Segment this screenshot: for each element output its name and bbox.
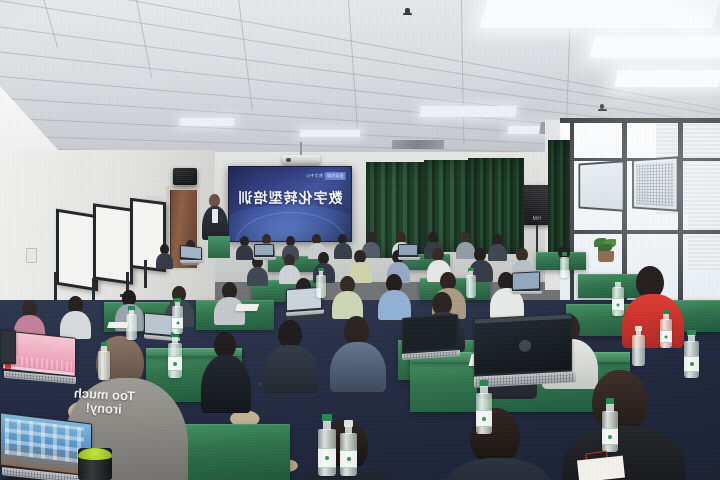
slide-logo-chip: 会议内部 xyxy=(325,172,346,180)
water-bottle[interactable] xyxy=(98,342,110,380)
ceiling-light-panel xyxy=(615,70,720,87)
water-bottle[interactable] xyxy=(340,420,357,476)
speaker-stand-pole xyxy=(536,225,538,253)
laptop-screen xyxy=(475,314,571,374)
handout-paper[interactable] xyxy=(577,456,625,480)
awning-window-open[interactable] xyxy=(632,156,679,212)
fire-sprinkler-icon xyxy=(405,8,410,15)
projection-screen: 数字化转型培训 会议内部 数字中心 xyxy=(228,166,352,242)
water-bottle[interactable] xyxy=(168,332,182,378)
window-blind[interactable] xyxy=(688,202,720,272)
vacuum-flask[interactable] xyxy=(78,448,112,480)
laptop[interactable] xyxy=(0,330,18,370)
laptop-screen xyxy=(255,245,273,255)
laptop[interactable] xyxy=(254,244,276,260)
water-bottle[interactable] xyxy=(602,398,618,452)
laptop[interactable] xyxy=(512,272,542,294)
laptop[interactable] xyxy=(180,246,204,263)
laptop-screen xyxy=(181,246,201,259)
water-bottle[interactable] xyxy=(172,298,183,334)
whiteboard-leg xyxy=(144,260,147,288)
slide-title-text: 数字化转型培训 xyxy=(229,188,351,208)
wall-speaker-left xyxy=(173,168,197,185)
ceiling-light-panel xyxy=(589,36,720,58)
jacket-back-text: Too much irony! xyxy=(47,385,160,419)
lectern xyxy=(208,236,230,258)
projector-mount-arm xyxy=(300,142,302,156)
whiteboard-leg xyxy=(54,272,57,302)
training-desk-front xyxy=(170,424,290,480)
water-bottle[interactable] xyxy=(684,330,699,378)
wall-switch-plate[interactable] xyxy=(26,248,37,263)
water-bottle[interactable] xyxy=(318,414,336,476)
water-bottle[interactable] xyxy=(316,268,326,298)
water-bottle[interactable] xyxy=(632,326,645,366)
slide-logo: 会议内部 数字中心 xyxy=(306,172,346,180)
ceiling-light-panel xyxy=(419,106,517,117)
ceiling-air-vent xyxy=(392,140,445,149)
water-bottle[interactable] xyxy=(476,380,492,434)
water-bottle[interactable] xyxy=(612,278,624,316)
laptop[interactable] xyxy=(474,316,576,386)
water-bottle[interactable] xyxy=(660,310,672,348)
presenter-shirt xyxy=(212,209,218,223)
laptop-screen xyxy=(399,245,417,255)
microphone-icon xyxy=(220,214,223,222)
flask-lid xyxy=(78,448,112,460)
potted-plant xyxy=(592,238,620,262)
awning-window-open[interactable] xyxy=(579,160,625,212)
laptop-screen xyxy=(403,315,457,352)
slide-logo-text: 数字中心 xyxy=(306,173,323,179)
handout-paper[interactable] xyxy=(107,322,129,328)
laptop[interactable] xyxy=(402,316,460,358)
fire-sprinkler-icon xyxy=(600,104,604,109)
ceiling-projector xyxy=(282,155,320,165)
ceiling-light-panel xyxy=(480,0,720,28)
laptop[interactable] xyxy=(398,244,420,260)
ceiling-light-panel xyxy=(180,118,235,126)
handout-paper[interactable] xyxy=(235,304,259,311)
water-bottle[interactable] xyxy=(560,252,569,278)
laptop-screen xyxy=(513,272,539,289)
ceiling-light-panel xyxy=(300,130,361,137)
water-bottle[interactable] xyxy=(466,268,476,298)
training-room-photograph: MH 数字化转型培训 会议内部 数字中心 xyxy=(0,0,720,480)
